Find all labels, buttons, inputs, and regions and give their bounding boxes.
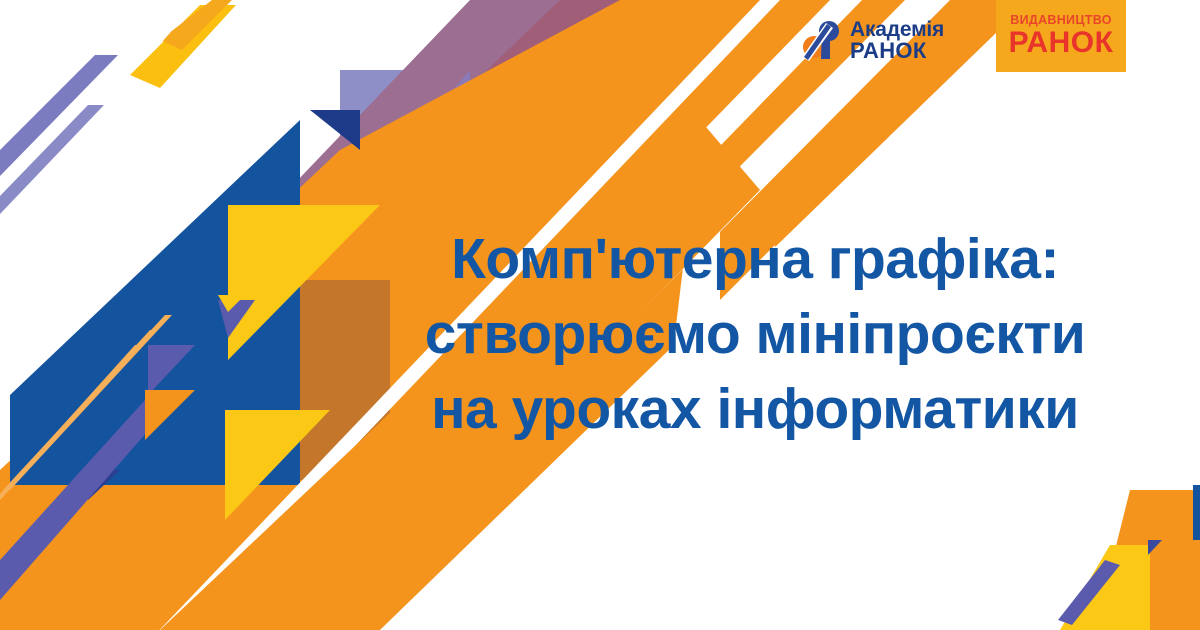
yellow-triangle-lower <box>225 410 330 520</box>
periwinkle-band-lower <box>0 400 175 600</box>
academy-logo-mark-icon <box>800 17 846 63</box>
banner-canvas: Академія РАНОК ВИДАВНИЦТВО РАНОК Комп'ют… <box>0 0 1200 630</box>
white-notch-small <box>130 10 190 50</box>
corner-orange-bottomright <box>1095 490 1200 630</box>
blue-quadrilateral <box>10 120 300 485</box>
blue-small-triangle-2 <box>88 470 120 500</box>
blue-small-triangle <box>310 110 360 150</box>
periwinkle-sliver-lower <box>218 300 255 338</box>
orange-hairlines <box>0 315 172 500</box>
yellow-sliver-lower <box>218 295 245 312</box>
academy-logo: Академія РАНОК <box>800 14 950 66</box>
yellow-band-top-2 <box>160 0 232 50</box>
yellow-band-top <box>130 5 236 88</box>
publisher-logo-line2: РАНОК <box>1009 28 1114 58</box>
corner-blue-sliver <box>1193 485 1200 540</box>
publisher-logo-line1: ВИДАВНИЦТВО <box>1010 14 1112 27</box>
periwinkle-triangle-lower <box>148 345 195 395</box>
periwinkle-block <box>340 0 560 210</box>
banner-title: Комп'ютерна графіка: створюємо мініпроєк… <box>340 222 1170 448</box>
academy-logo-text: Академія РАНОК <box>850 19 944 62</box>
periwinkle-band-topleft-2 <box>0 105 104 214</box>
academy-logo-line1: Академія <box>850 19 944 40</box>
publisher-logo: ВИДАВНИЦТВО РАНОК <box>996 0 1126 72</box>
academy-logo-line2: РАНОК <box>850 40 944 62</box>
periwinkle-block-shade <box>470 0 560 120</box>
periwinkle-band-topleft <box>0 55 118 176</box>
corner-periwinkle-bottomright <box>1058 560 1120 625</box>
corner-periwinkle-chip <box>1148 540 1162 555</box>
orange-triangle-lower <box>145 390 195 440</box>
corner-yellow-bottomright <box>1060 545 1150 630</box>
